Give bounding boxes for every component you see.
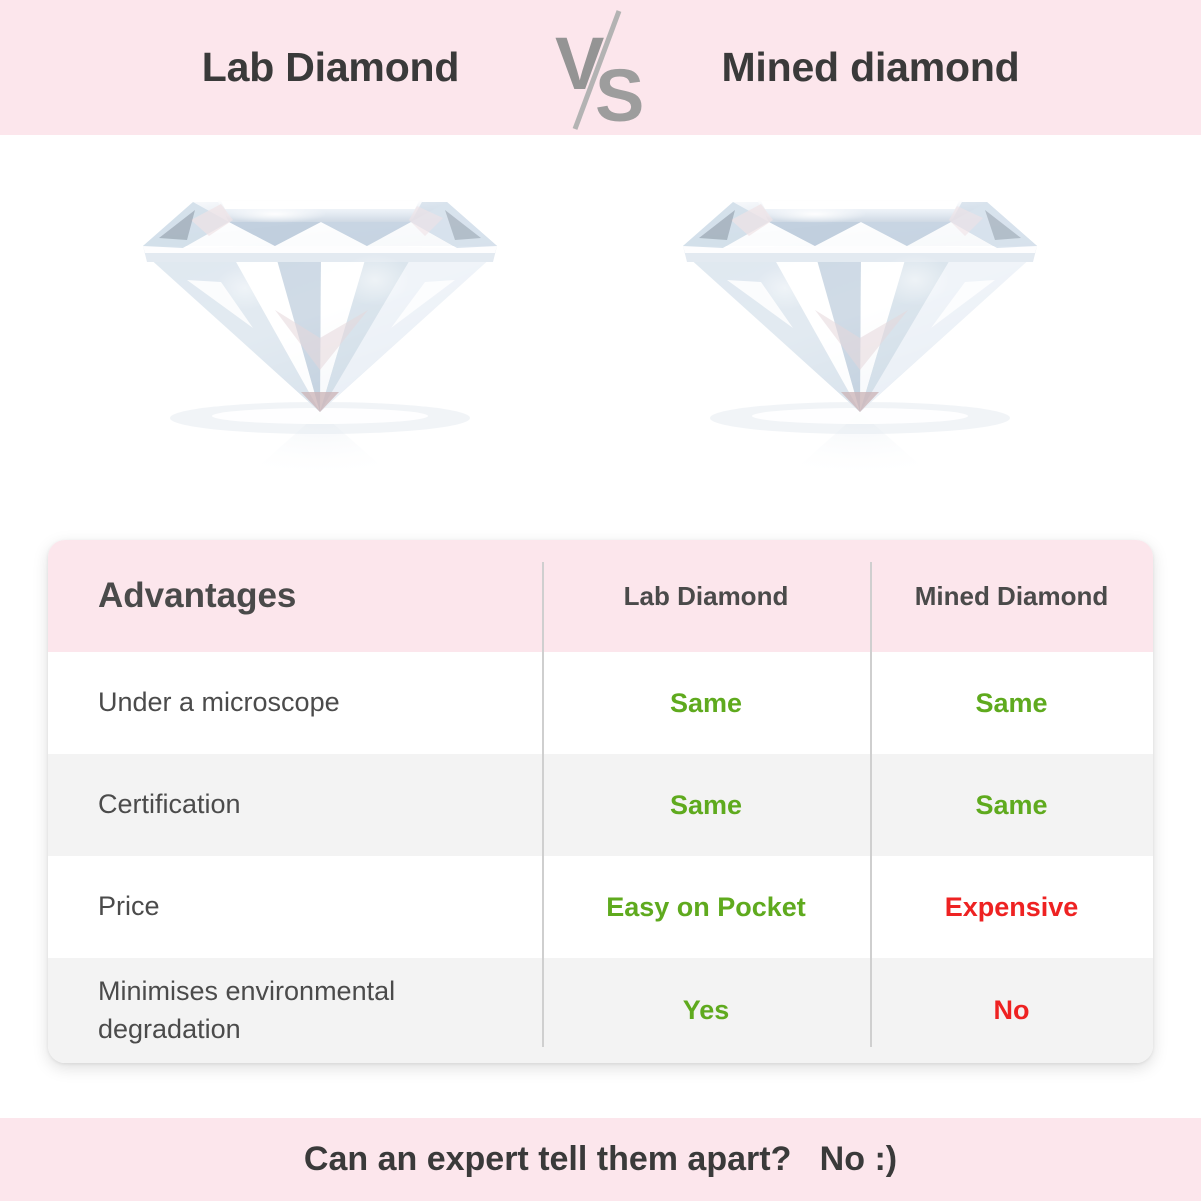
row-feature-cell: Certification — [48, 786, 542, 823]
row-mined-value: Same — [975, 688, 1047, 718]
vs-separator-icon: V S — [541, 3, 661, 133]
row-lab-value: Yes — [683, 995, 730, 1025]
table-row: Price Easy on Pocket Expensive — [48, 856, 1153, 958]
table-row: Minimises environmental degradation Yes … — [48, 958, 1153, 1063]
row-lab-cell: Easy on Pocket — [542, 892, 870, 923]
header-title-lab: Lab Diamond — [121, 44, 541, 91]
svg-text:S: S — [595, 54, 644, 133]
row-lab-value: Same — [670, 790, 742, 820]
row-lab-value: Easy on Pocket — [606, 892, 806, 922]
header-title-mined: Mined diamond — [661, 44, 1081, 91]
table-row: Certification Same Same — [48, 754, 1153, 856]
footer-question: Can an expert tell them apart? No :) — [304, 1140, 897, 1179]
row-feature-cell: Minimises environmental degradation — [48, 973, 542, 1048]
row-feature-label: Minimises environmental degradation — [98, 976, 395, 1043]
comparison-card: Advantages Lab Diamond Mined Diamond Und… — [48, 540, 1153, 1063]
row-mined-value: Expensive — [945, 892, 1079, 922]
lab-diamond-image — [125, 160, 515, 490]
row-mined-value: Same — [975, 790, 1047, 820]
header-label-mined: Mined Diamond — [915, 581, 1109, 611]
header-cell-mined: Mined Diamond — [870, 581, 1153, 612]
row-mined-cell: Same — [870, 688, 1153, 719]
mined-diamond-image — [665, 160, 1055, 490]
row-lab-cell: Yes — [542, 995, 870, 1026]
row-feature-cell: Under a microscope — [48, 684, 542, 721]
header-cell-lab: Lab Diamond — [542, 581, 870, 612]
header-banner: Lab Diamond V S Mined diamond — [0, 0, 1201, 135]
row-mined-value: No — [994, 995, 1030, 1025]
column-divider-lab — [542, 562, 544, 1047]
table-header-row: Advantages Lab Diamond Mined Diamond — [48, 540, 1153, 652]
header-cell-advantages: Advantages — [48, 576, 542, 616]
infographic-page: Lab Diamond V S Mined diamond — [0, 0, 1201, 1201]
row-mined-cell: Same — [870, 790, 1153, 821]
row-feature-label: Price — [98, 891, 160, 921]
diamond-stage — [0, 135, 1201, 535]
row-feature-label: Under a microscope — [98, 687, 340, 717]
header-label-advantages: Advantages — [98, 576, 296, 615]
row-mined-cell: Expensive — [870, 892, 1153, 923]
row-mined-cell: No — [870, 995, 1153, 1026]
row-lab-value: Same — [670, 688, 742, 718]
footer-banner: Can an expert tell them apart? No :) — [0, 1118, 1201, 1201]
row-feature-label: Certification — [98, 789, 241, 819]
table-row: Under a microscope Same Same — [48, 652, 1153, 754]
comparison-table: Advantages Lab Diamond Mined Diamond Und… — [48, 540, 1153, 1063]
header-label-lab: Lab Diamond — [624, 581, 789, 611]
row-lab-cell: Same — [542, 688, 870, 719]
row-lab-cell: Same — [542, 790, 870, 821]
column-divider-mined — [870, 562, 872, 1047]
row-feature-cell: Price — [48, 888, 542, 925]
